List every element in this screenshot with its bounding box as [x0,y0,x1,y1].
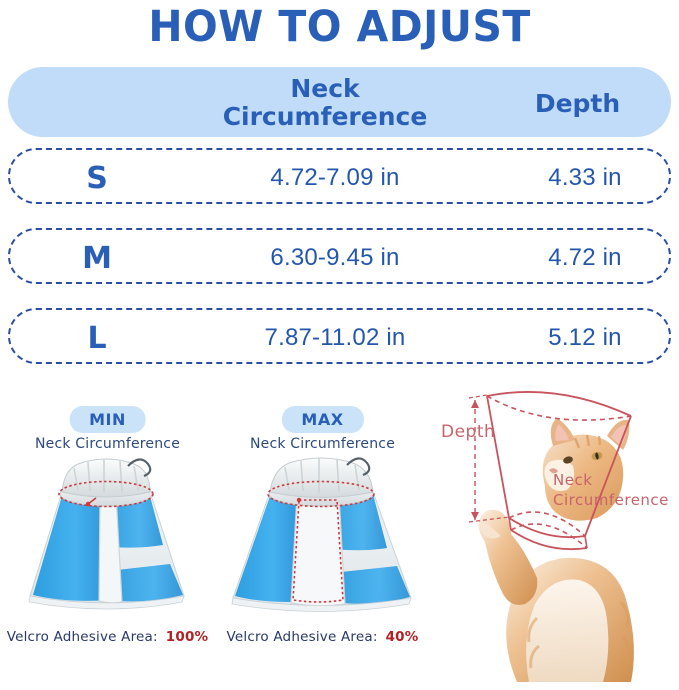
cat-measurement-diagram: Depth Neck Circumference [425,390,679,685]
velcro-label-min: Velcro Adhesive Area: [7,629,158,645]
velcro-value-max: 40% [386,629,419,645]
column-header-depth: Depth [495,70,660,136]
cone-image-min [0,450,215,625]
cone-max-svg [215,450,430,625]
cell-neck: 4.72-7.09 in [170,150,500,206]
column-header-neck-line1: Neck [290,75,359,103]
cone-image-max [215,450,430,625]
cell-size: L [62,310,132,366]
table-row: L 7.87-11.02 in 5.12 in [8,308,671,364]
table-row: M 6.30-9.45 in 4.72 in [8,228,671,284]
column-header-neck-line2: Circumference [223,103,428,131]
badge-min: MIN [69,406,146,433]
demo-panel-max: MAX Neck Circumference [215,398,430,658]
velcro-label-max: Velcro Adhesive Area: [226,629,377,645]
cell-neck: 6.30-9.45 in [170,230,500,286]
cell-depth: 5.12 in [500,310,670,366]
cell-depth: 4.33 in [500,150,670,206]
page-title: HOW TO ADJUST [17,2,662,52]
velcro-value-min: 100% [166,629,209,645]
cell-size: S [62,150,132,206]
cell-size: M [62,230,132,286]
velcro-area-min: Velcro Adhesive Area:100% [0,629,215,645]
label-depth: Depth [441,422,495,442]
table-row: S 4.72-7.09 in 4.33 in [8,148,671,204]
badge-max: MAX [281,406,363,433]
velcro-area-max: Velcro Adhesive Area:40% [215,629,430,645]
cell-neck: 7.87-11.02 in [170,310,500,366]
column-header-neck-circumference: Neck Circumference [160,70,490,136]
cone-min-svg [0,450,215,625]
label-neck-line1: Neck [553,470,669,490]
label-neck-circumference: Neck Circumference [553,470,669,510]
label-neck-line2: Circumference [553,490,669,510]
cell-depth: 4.72 in [500,230,670,286]
demo-panel-min: MIN Neck Circumference [0,398,215,658]
